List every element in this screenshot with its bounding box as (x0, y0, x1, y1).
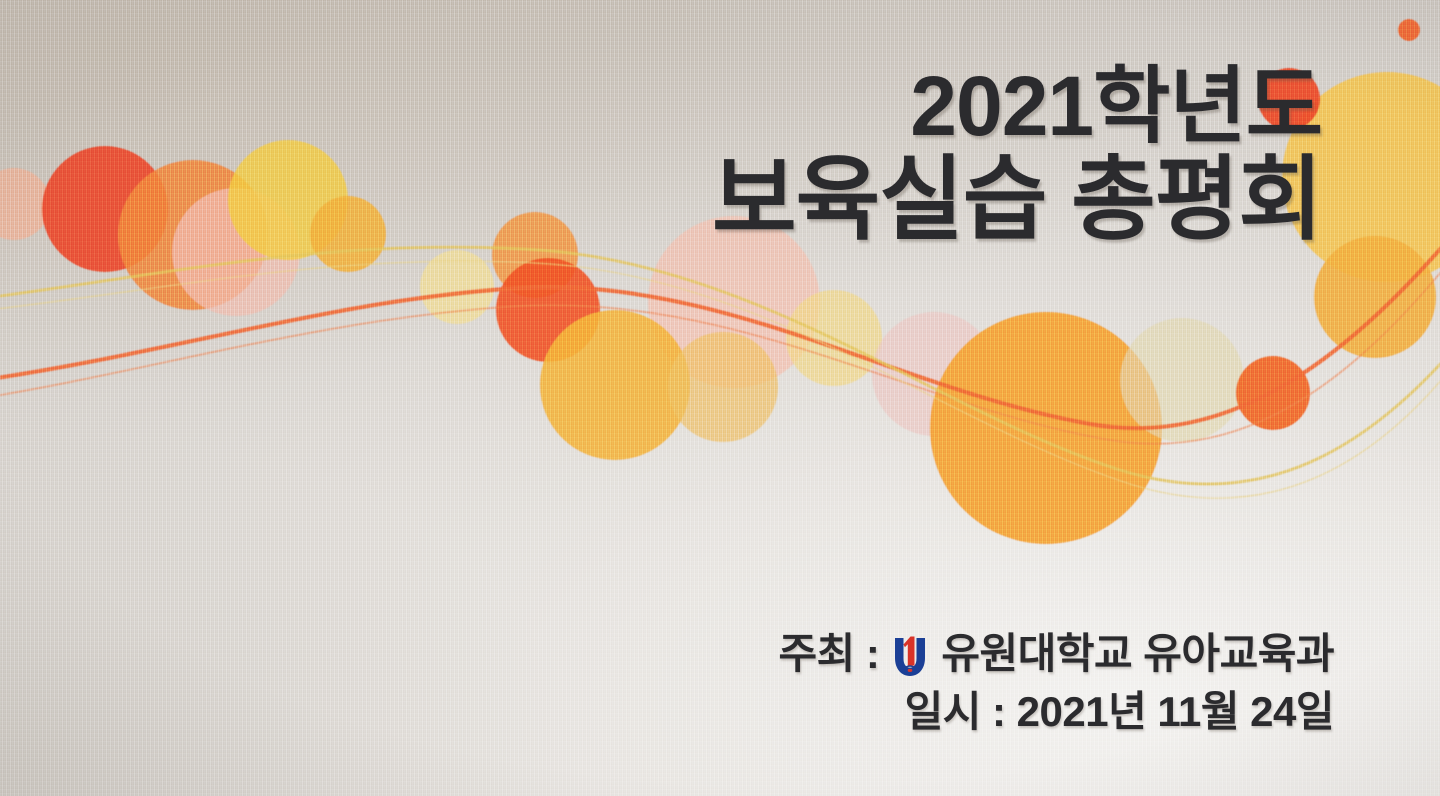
host-name: 유원대학교 유아교육과 (941, 627, 1334, 682)
host-row: 주최 : 유원대학교 유아교육과 (778, 627, 1334, 682)
date-row: 일시 : 2021년 11월 24일 (778, 685, 1334, 740)
banner-footer: 주최 : 유원대학교 유아교육과 일시 : 2021년 11월 24일 (778, 627, 1334, 740)
banner-title: 2021학년도 보육실습 총평회 (712, 64, 1322, 249)
title-line-year: 2021학년도 (712, 64, 1322, 150)
title-line-event: 보육실습 총평회 (712, 152, 1322, 250)
banner-photo: 2021학년도 보육실습 총평회 주최 : 유원대학교 유아교육과 일시 : 2… (0, 0, 1440, 796)
date-text: 일시 : 2021년 11월 24일 (905, 685, 1334, 740)
u1-university-logo-icon (889, 634, 931, 680)
host-label: 주최 : (778, 627, 879, 682)
